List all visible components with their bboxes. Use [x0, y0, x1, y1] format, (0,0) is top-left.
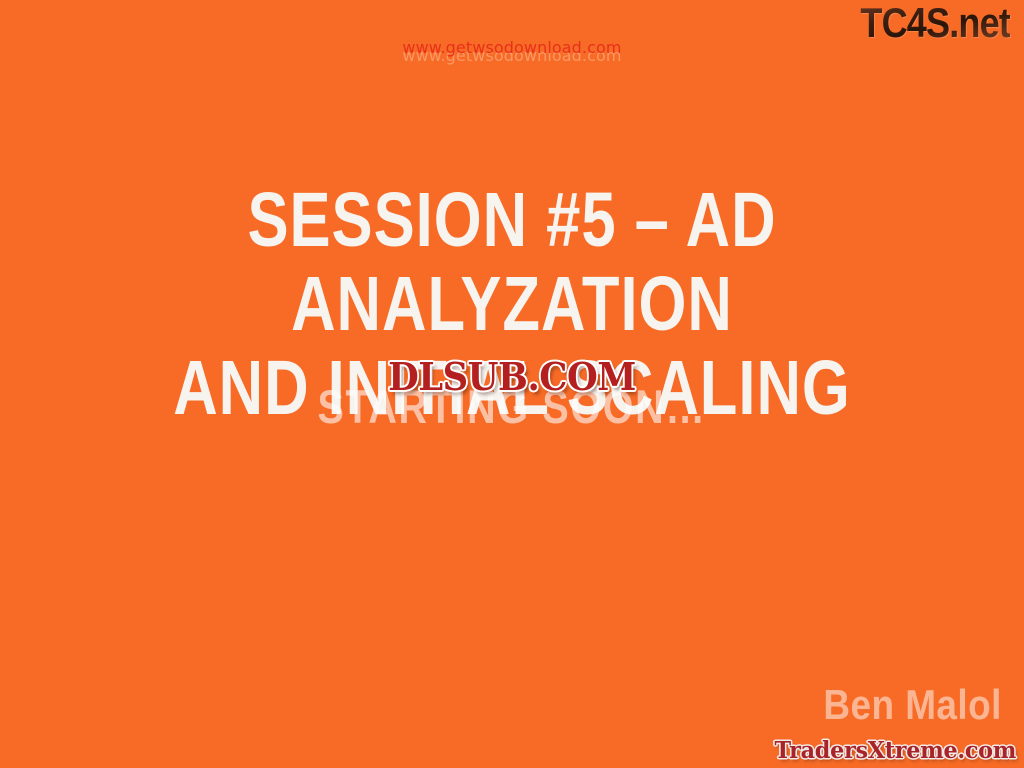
presenter-name: Ben Malol	[823, 684, 1002, 726]
source-url-watermark-ghost: www.getwsodownload.com	[0, 48, 1024, 64]
site-watermark-tradersxtreme: TradersXtreme.com	[774, 738, 1016, 763]
brand-watermark-tc4s: TC4S.net	[860, 2, 1010, 44]
presentation-slide: www.getwsodownload.com www.getwsodownloa…	[0, 0, 1024, 768]
source-url-watermark-text: www.getwsodownload.com	[402, 40, 621, 56]
slide-subtitle: STARTING SOON…	[82, 381, 942, 433]
